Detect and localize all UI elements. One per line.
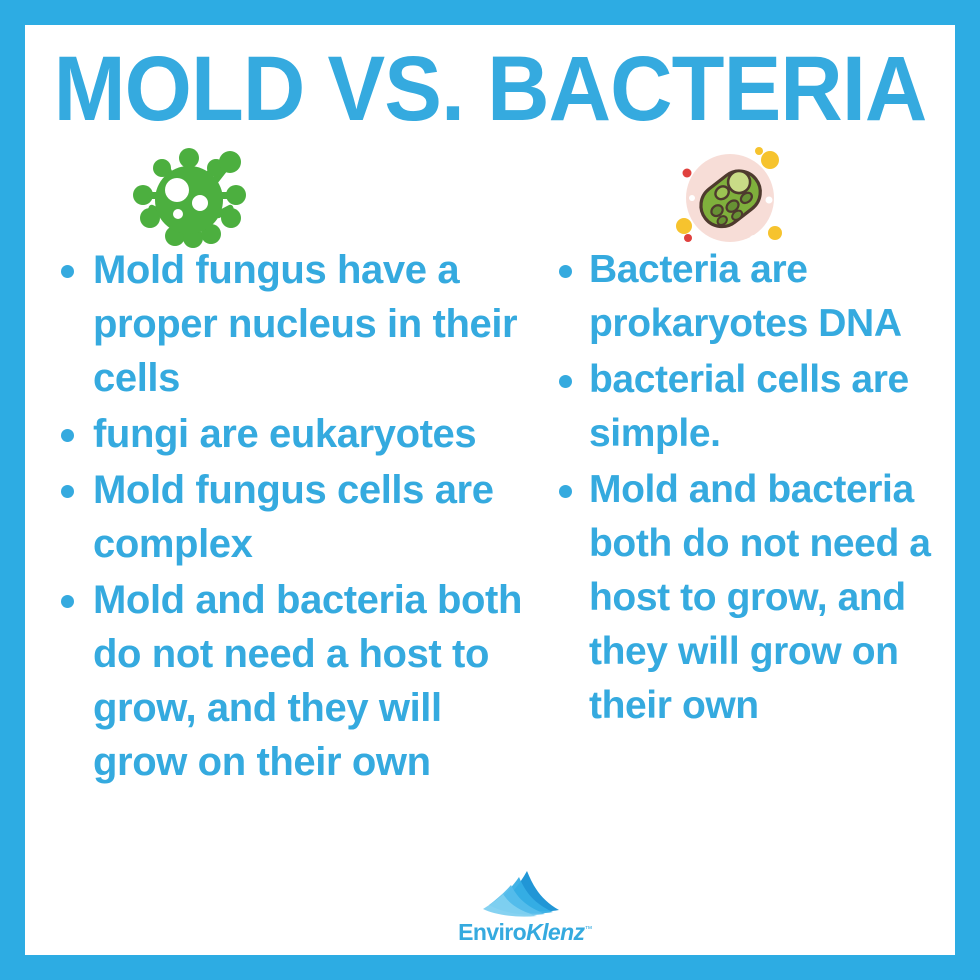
bullet-dot-icon: [559, 485, 572, 498]
list-item-text: Bacteria are prokaryotes DNA: [589, 248, 902, 345]
list-item-text: Mold fungus cells are complex: [93, 468, 494, 566]
list-item: Mold and bacteria both do not need a hos…: [553, 463, 947, 733]
list-item-text: fungi are eukaryotes: [93, 412, 476, 456]
logo-text-klenz: Klenz: [526, 919, 584, 945]
infographic-poster: MOLD VS. BACTERIA: [0, 0, 980, 980]
bullet-dot-icon: [559, 375, 572, 388]
list-item: Mold fungus have a proper nucleus in the…: [55, 243, 529, 405]
poster-inner-card: MOLD VS. BACTERIA: [25, 25, 955, 955]
list-item: fungi are eukaryotes: [55, 407, 529, 461]
comparison-columns: Mold fungus have a proper nucleus in the…: [25, 243, 955, 955]
icon-row: [25, 130, 955, 250]
mold-bullet-list: Mold fungus have a proper nucleus in the…: [55, 243, 529, 789]
bacteria-cell-icon: [665, 138, 795, 258]
mold-column: Mold fungus have a proper nucleus in the…: [25, 243, 535, 955]
list-item: Mold and bacteria both do not need a hos…: [55, 573, 529, 789]
page-title: MOLD VS. BACTERIA: [53, 43, 927, 135]
list-item-text: Mold and bacteria both do not need a hos…: [589, 468, 931, 727]
mold-spore-icon: [130, 148, 250, 248]
bacteria-column: Bacteria are prokaryotes DNA bacterial c…: [535, 243, 955, 955]
list-item: bacterial cells are simple.: [553, 353, 947, 461]
trademark-symbol: ™: [584, 924, 591, 933]
enviroklenz-fan-icon: [475, 870, 575, 918]
list-item-text: Mold fungus have a proper nucleus in the…: [93, 248, 517, 400]
list-item-text: bacterial cells are simple.: [589, 358, 909, 455]
bullet-dot-icon: [61, 595, 74, 608]
list-item: Mold fungus cells are complex: [55, 463, 529, 571]
enviroklenz-logo: EnviroKlenz™: [450, 870, 600, 950]
list-item: Bacteria are prokaryotes DNA: [553, 243, 947, 351]
bacteria-bullet-list: Bacteria are prokaryotes DNA bacterial c…: [553, 243, 947, 733]
bullet-dot-icon: [559, 265, 572, 278]
bullet-dot-icon: [61, 265, 74, 278]
logo-text-enviro: Enviro: [458, 919, 526, 945]
bullet-dot-icon: [61, 485, 74, 498]
list-item-text: Mold and bacteria both do not need a hos…: [93, 578, 522, 784]
enviroklenz-wordmark: EnviroKlenz™: [450, 919, 600, 946]
bullet-dot-icon: [61, 429, 74, 442]
